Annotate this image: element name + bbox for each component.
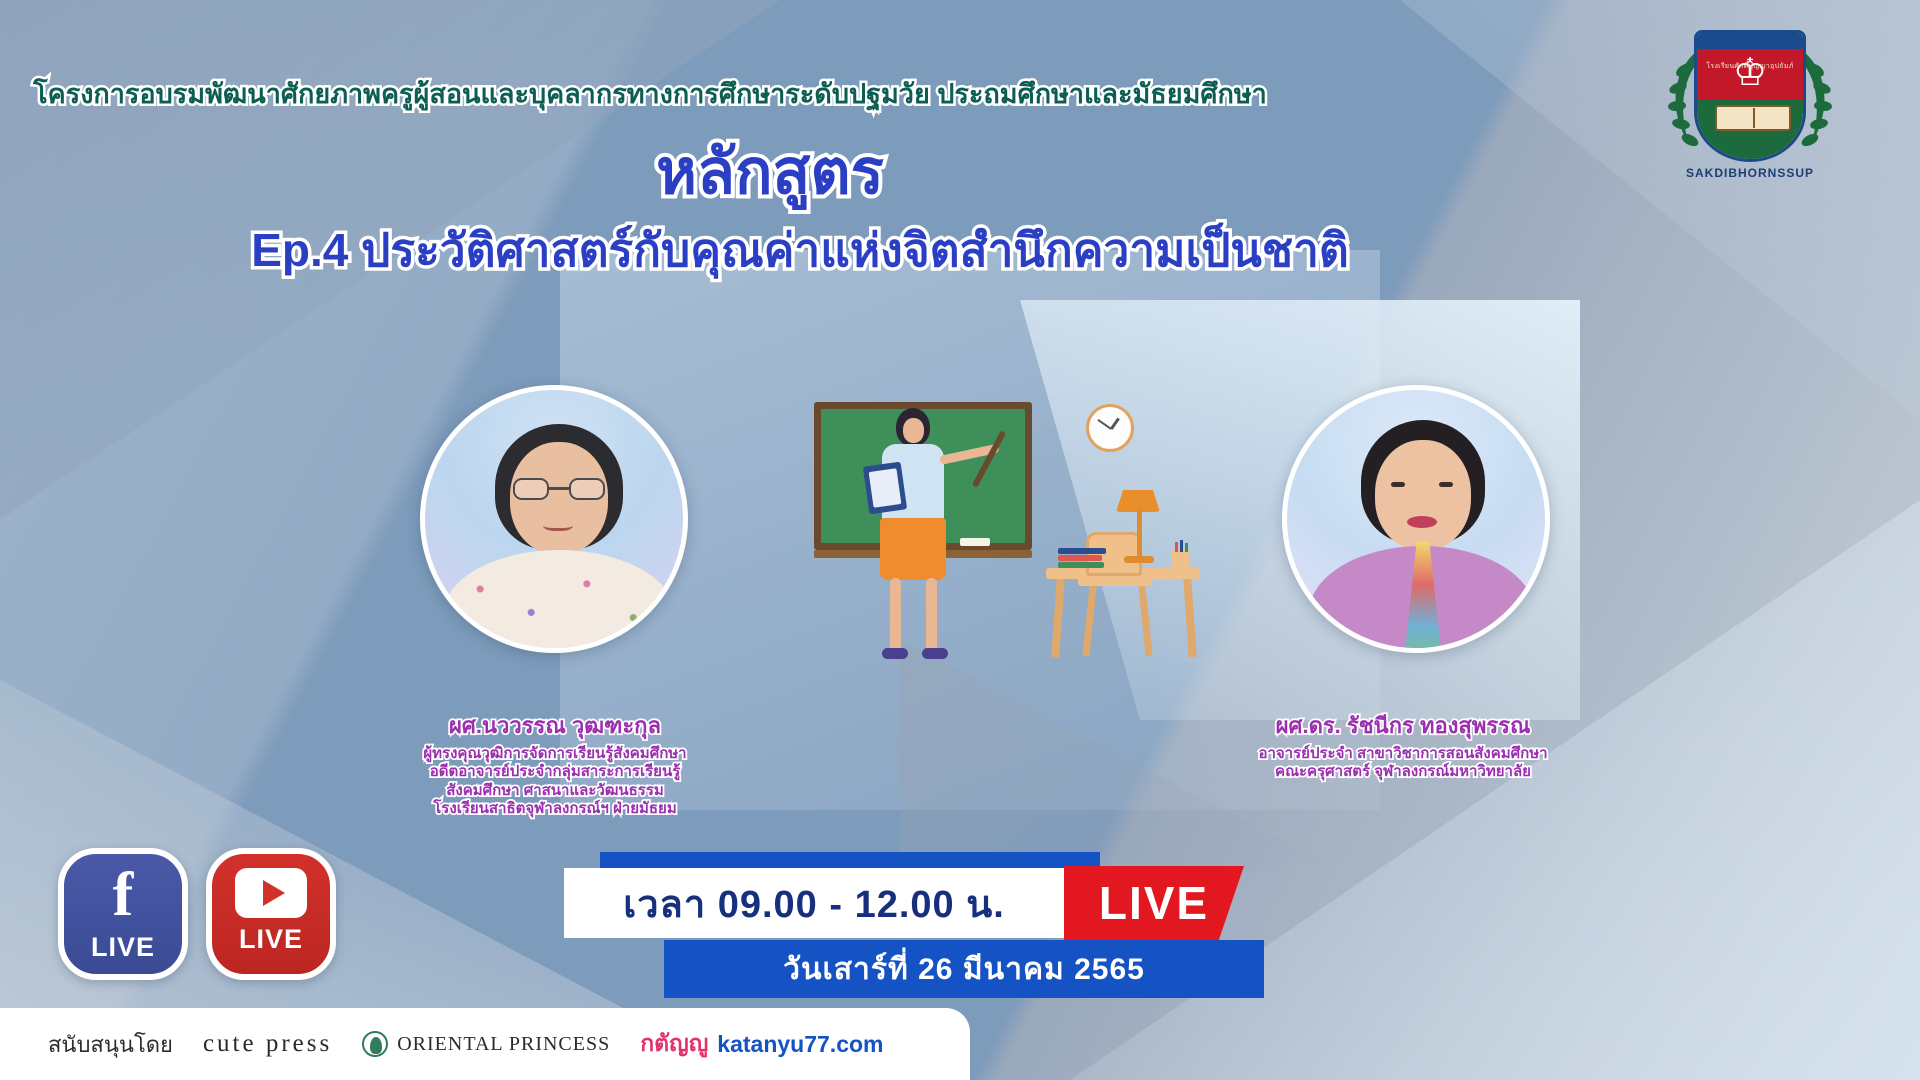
youtube-live-label: LIVE	[239, 924, 303, 955]
chair-leg	[1138, 586, 1152, 656]
speaker-detail-line: อาจารย์ประจำ สาขาวิชาการสอนสังคมศึกษา	[1218, 745, 1588, 763]
speaker-caption-right: ผศ.ดร. รัชนีกร ทองสุพรรณ อาจารย์ประจำ สา…	[1218, 708, 1588, 782]
glasses-icon	[513, 478, 605, 502]
chair-leg	[1082, 586, 1096, 656]
lamp-base	[1124, 556, 1154, 563]
time-panel-accent-bar	[600, 852, 1100, 868]
horse-icon: ♔	[1733, 53, 1767, 93]
speaker-detail-line: โรงเรียนสาธิตจุฬาลงกรณ์ฯ ฝ่ายมัธยม	[370, 800, 740, 818]
speaker-name: ผศ.นววรรณ วุฒฑะกุล	[370, 708, 740, 743]
speaker-portrait-right	[1282, 385, 1550, 653]
speaker-detail-line: อดีตอาจารย์ประจำกลุ่มสาระการเรียนรู้	[370, 763, 740, 781]
katanyu-url: katanyu77.com	[717, 1031, 883, 1058]
facebook-live-button[interactable]: f LIVE	[58, 848, 188, 980]
desk-leg	[1183, 579, 1196, 657]
chair-seat	[1078, 576, 1152, 586]
emblem-scroll-text: โรงเรียนศักดิ์บุญญาอุปถัมภ์	[1702, 61, 1798, 72]
pencil-cup-icon	[1172, 550, 1189, 569]
speaker-detail-line: คณะครุศาสตร์ จุฬาลงกรณ์มหาวิทยาลัย	[1218, 763, 1588, 781]
emblem-shield: ♔ โรงเรียนศักดิ์บุญญาอุปถัมภ์	[1694, 30, 1806, 162]
facebook-icon: f	[113, 864, 134, 926]
lips-shape	[1407, 516, 1437, 528]
lamp-pole	[1137, 506, 1142, 558]
teacher-shoe	[882, 648, 908, 659]
school-emblem: ♔ โรงเรียนศักดิ์บุญญาอุปถัมภ์ SAKDIBHORN…	[1650, 22, 1850, 182]
poster-canvas: ♔ โรงเรียนศักดิ์บุญญาอุปถัมภ์ SAKDIBHORN…	[0, 0, 1920, 1080]
wall-clock-icon	[1086, 404, 1134, 452]
oriental-princess-logo	[362, 1031, 388, 1057]
eye-shape	[1391, 482, 1405, 487]
program-header-text: โครงการอบรมพัฒนาศักยภาพครูผู้สอนและบุคลา…	[0, 72, 1300, 115]
oriental-princess-label: ORIENTAL PRINCESS	[397, 1033, 610, 1056]
sponsor-label: สนับสนุนโดย	[48, 1027, 173, 1062]
speaker-caption-left: ผศ.นววรรณ วุฒฑะกุล ผู้ทรงคุณวุฒิการจัดกา…	[370, 708, 740, 818]
live-badge-label: LIVE	[1099, 876, 1209, 930]
time-text: เวลา 09.00 - 12.00 น.	[623, 873, 1005, 934]
emblem-school-name: SAKDIBHORNSSUP	[1650, 166, 1850, 180]
speaker-name: ผศ.ดร. รัชนีกร ทองสุพรรณ	[1218, 708, 1588, 743]
page-title: หลักสูตร	[0, 140, 1540, 205]
speaker-detail-line: สังคมศึกษา ศาสนาและวัฒนธรรม	[370, 782, 740, 800]
clipboard-icon	[863, 462, 907, 515]
book-icon	[1715, 105, 1791, 131]
speaker-detail-line: ผู้ทรงคุณวุฒิการจัดการเรียนรู้สังคมศึกษา	[370, 745, 740, 763]
time-panel: เวลา 09.00 - 12.00 น.	[564, 868, 1064, 938]
teacher-face	[903, 418, 924, 443]
sponsor-katanyu: กตัญญู katanyu77.com	[640, 1026, 883, 1062]
katanyu-logo: กตัญญู	[640, 1026, 708, 1062]
smile-shape	[543, 518, 573, 531]
date-text: วันเสาร์ที่ 26 มีนาคม 2565	[783, 946, 1145, 993]
sponsor-bar: สนับสนุนโดย cute press ORIENTAL PRINCESS…	[0, 1008, 970, 1080]
youtube-icon	[235, 868, 307, 918]
sponsor-oriental-princess: ORIENTAL PRINCESS	[362, 1031, 610, 1057]
social-buttons: f LIVE LIVE	[58, 848, 336, 980]
eye-shape	[1439, 482, 1453, 487]
desk-leg	[1051, 579, 1064, 657]
teacher-skirt	[880, 518, 946, 580]
youtube-live-button[interactable]: LIVE	[206, 848, 336, 980]
classroom-illustration	[790, 390, 1210, 680]
teacher-leg	[926, 578, 937, 654]
face-shape	[1375, 440, 1471, 550]
cutepress-logo: cute press	[203, 1030, 332, 1058]
chalk-icon	[960, 538, 990, 546]
books-icon	[1058, 548, 1106, 568]
speaker-portrait-left	[420, 385, 688, 653]
page-subtitle: Ep.4 ประวัติศาสตร์กับคุณค่าแห่งจิตสำนึกค…	[0, 214, 1600, 287]
sponsor-cutepress: cute press	[203, 1030, 332, 1058]
floral-pattern	[443, 550, 675, 653]
teacher-leg	[890, 578, 901, 654]
facebook-live-label: LIVE	[91, 932, 155, 963]
emblem-band	[1697, 33, 1803, 49]
teacher-shoe	[922, 648, 948, 659]
date-panel: วันเสาร์ที่ 26 มีนาคม 2565	[664, 940, 1264, 998]
live-status-badge: LIVE	[1064, 866, 1244, 940]
